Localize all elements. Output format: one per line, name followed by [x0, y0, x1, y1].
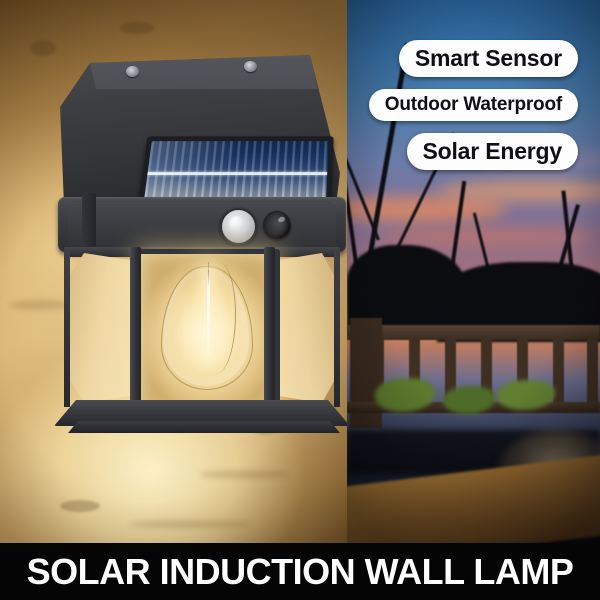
- lantern-frame-post: [264, 247, 275, 409]
- lantern-frame-post: [130, 247, 141, 409]
- bulb-filament: [207, 270, 210, 356]
- sensor-housing-band: [58, 197, 346, 252]
- feature-badge-list: Smart Sensor Outdoor Waterproof Solar En…: [369, 40, 578, 170]
- pir-motion-sensor-icon: [220, 208, 257, 245]
- photocell-sensor-icon: [263, 211, 291, 240]
- pir-dome: [229, 216, 245, 232]
- badge-smart-sensor: Smart Sensor: [399, 40, 578, 77]
- glass-panel-front: [136, 249, 280, 417]
- housing-groove: [68, 201, 336, 248]
- mounting-screw-icon: [244, 61, 257, 72]
- photocell-glint: [277, 216, 285, 223]
- left-photo-wall-scene: [0, 0, 347, 543]
- lantern-corner-post: [64, 249, 70, 407]
- lamp-base-lip: [68, 421, 340, 433]
- product-image: Smart Sensor Outdoor Waterproof Solar En…: [0, 0, 600, 600]
- bottom-caption-banner: SOLAR INDUCTION WALL LAMP: [0, 543, 600, 600]
- badge-solar-energy: Solar Energy: [407, 133, 579, 170]
- lantern-corner-post: [334, 249, 340, 407]
- lantern-body: [64, 247, 340, 412]
- badge-outdoor-waterproof: Outdoor Waterproof: [369, 89, 578, 121]
- product-title-text: SOLAR INDUCTION WALL LAMP: [27, 551, 574, 593]
- solar-wall-lamp: [58, 55, 347, 455]
- mounting-screw-icon: [126, 66, 139, 77]
